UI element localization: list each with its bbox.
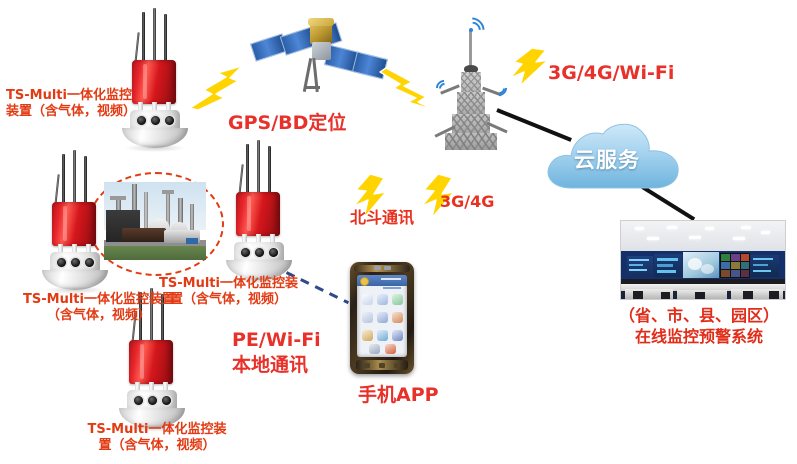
wifi-signal-icon bbox=[459, 18, 483, 32]
label-local-comm: PE/Wi-Fi 本地通讯 bbox=[232, 328, 321, 377]
label-device-top: TS-Multi一体化监控 装置（含气体，视频） bbox=[6, 88, 156, 121]
label-beidou: 北斗通讯 bbox=[350, 208, 414, 228]
label-3g4g-wifi: 3G/4G/Wi-Fi bbox=[548, 62, 674, 86]
label-device-bottom: TS-Multi一体化监控装 置（含气体，视频） bbox=[64, 422, 250, 455]
cloud-icon: 云服务 bbox=[540, 118, 690, 196]
cell-tower-icon bbox=[428, 18, 514, 150]
label-device-mid: TS-Multi一体化监控装 置（含气体，视频） bbox=[156, 276, 301, 309]
diagram-canvas: 云服务 bbox=[0, 0, 797, 464]
label-3g4g: 3G/4G bbox=[440, 192, 494, 212]
cloud-label: 云服务 bbox=[574, 144, 640, 174]
monitoring-device-icon bbox=[28, 150, 132, 290]
label-gps: GPS/BD定位 bbox=[228, 112, 346, 136]
control-room-photo bbox=[620, 220, 786, 300]
label-control-center: （省、市、县、园区） 在线监控预警系统 bbox=[604, 306, 794, 348]
lightning-bolt-icon bbox=[186, 64, 252, 114]
lightning-bolt-icon bbox=[378, 66, 440, 114]
label-phone-app: 手机APP bbox=[358, 384, 439, 408]
satellite-icon bbox=[250, 8, 375, 98]
monitoring-device-icon bbox=[212, 140, 316, 280]
tablet-device-icon[interactable] bbox=[350, 262, 414, 374]
